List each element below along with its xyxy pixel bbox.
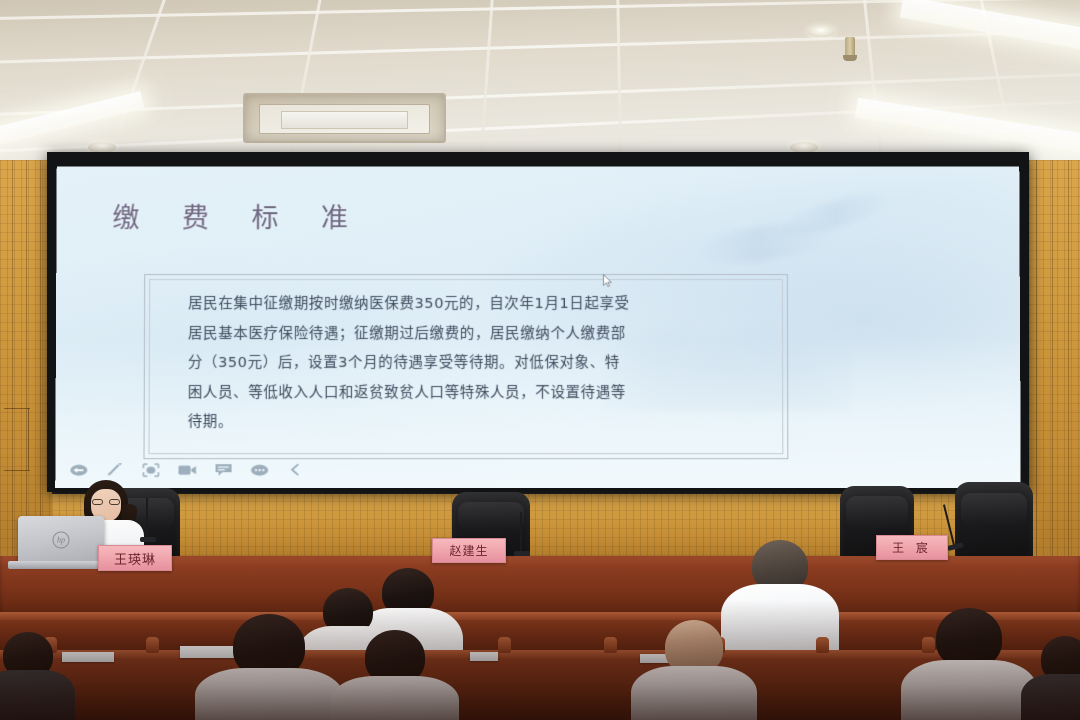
presenter-glasses xyxy=(92,499,120,505)
air-conditioner-vent xyxy=(243,93,446,143)
previous-slide-icon[interactable] xyxy=(286,462,305,477)
hp-logo-icon: hp xyxy=(53,532,70,549)
slide-body-line-1: 居民在集中征缴期按时缴纳医保费350元的，自次年1月1日起享受 xyxy=(188,290,748,319)
nameplate-left: 王瑛琳 xyxy=(98,545,172,571)
cloud-watermark-icon xyxy=(693,215,837,270)
audience-person-r2-e xyxy=(1020,636,1080,720)
slide-body-text: 居民在集中征缴期按时缴纳医保费350元的，自次年1月1日起享受 居民基本医疗保险… xyxy=(188,290,749,438)
zoom-slide-icon[interactable] xyxy=(141,462,160,477)
sprinkler-head xyxy=(845,37,855,59)
executive-chair-far-right xyxy=(955,482,1033,560)
audience-person-r2-a xyxy=(194,614,344,720)
ceiling xyxy=(0,0,1080,168)
nameplate-right: 王 宸 xyxy=(876,535,948,560)
powerpoint-presenter-toolbar[interactable] xyxy=(63,459,310,480)
presenter-laptop[interactable]: hp xyxy=(18,516,104,564)
nameplate-center: 赵建生 xyxy=(432,538,506,563)
slide-body-line-3: 分（350元）后，设置3个月的待遇享受等待期。对低保对象、特 xyxy=(188,349,748,379)
projected-slide[interactable]: 缴 费 标 准 居民在集中征缴期按时缴纳医保费350元的，自次年1月1日起享受 … xyxy=(55,166,1021,488)
audience-person-r2-b xyxy=(330,630,460,720)
video-icon[interactable] xyxy=(177,462,196,477)
screenshot-root: 缴 费 标 准 居民在集中征缴期按时缴纳医保费350元的，自次年1月1日起享受 … xyxy=(0,0,1080,720)
pointer-laser-icon[interactable] xyxy=(69,462,88,477)
downlight-1 xyxy=(807,26,835,37)
ceiling-tile-grid xyxy=(0,0,1080,168)
microphone-center xyxy=(520,512,522,552)
slide-body-line-2: 居民基本医疗保险待遇；征缴期过后缴费的，居民缴纳个人缴费部 xyxy=(188,320,748,350)
desk-paper-3 xyxy=(470,652,498,661)
slide-body-line-5: 待期。 xyxy=(188,408,749,438)
slide-title: 缴 费 标 准 xyxy=(112,196,365,235)
more-options-icon[interactable] xyxy=(250,462,269,477)
wood-acoustic-panel-left xyxy=(0,160,52,560)
cloud-watermark-secondary-icon xyxy=(776,185,896,244)
audience-person-r2-d xyxy=(900,608,1038,720)
subtitles-icon[interactable] xyxy=(214,462,233,477)
presenter-laptop-base xyxy=(8,561,112,569)
audience-person-r2-f xyxy=(0,632,76,720)
audience-person-r2-c xyxy=(630,620,758,720)
slide-body-line-4: 困人员、等低收入人口和返贫致贫人口等特殊人员，不设置待遇等 xyxy=(188,379,748,409)
pen-icon[interactable] xyxy=(105,462,124,477)
microphone-left xyxy=(146,498,148,538)
